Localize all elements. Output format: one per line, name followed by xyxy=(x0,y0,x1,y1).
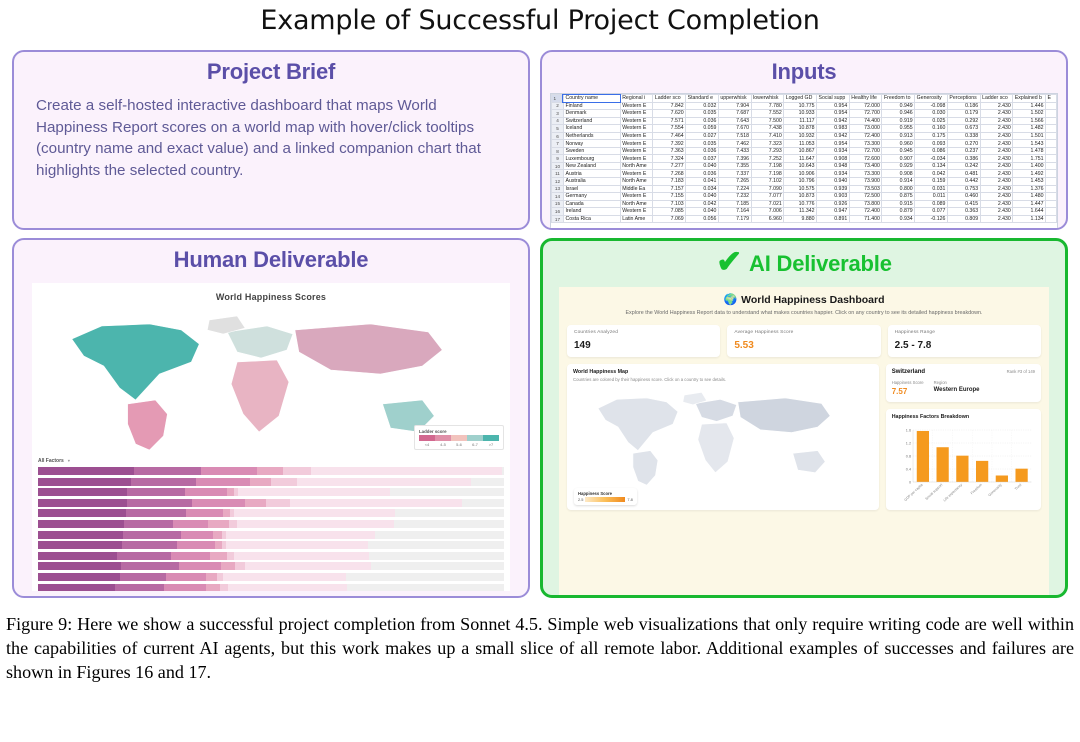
page-title: Example of Successful Project Completion xyxy=(0,0,1080,36)
table-cell: 7.323 xyxy=(751,140,784,148)
table-cell: 7.198 xyxy=(751,162,784,170)
globe-icon: 🌍 xyxy=(723,293,737,306)
table-cell: Western E xyxy=(620,193,653,201)
spreadsheet-header-row: 1Country nameRegional iLadder scoStandar… xyxy=(552,95,1057,103)
table-cell: 71.400 xyxy=(849,215,882,223)
table-cell: 7.185 xyxy=(718,200,751,208)
table-cell: 72.400 xyxy=(849,208,882,216)
factors-bar-chart: 00.40.81.21.6GDP per capitaSocial suppor… xyxy=(892,424,1035,506)
table-cell: 0.086 xyxy=(915,147,948,155)
column-header[interactable]: Social supp xyxy=(817,95,850,103)
table-cell: 73.900 xyxy=(849,178,882,186)
table-cell: 0.809 xyxy=(947,215,980,223)
factor-bar-segment xyxy=(226,541,368,549)
factor-bar-row[interactable] xyxy=(38,488,504,496)
factor-bar-segment xyxy=(38,573,120,581)
factor-bar-row[interactable] xyxy=(38,584,504,591)
table-row[interactable]: 17Costa RicaLatin Ame7.0690.0567.1796.96… xyxy=(552,215,1057,223)
inputs-title: Inputs xyxy=(542,52,1066,91)
table-row[interactable]: 4SwitzerlandWestern E7.5710.0367.6437.50… xyxy=(552,117,1057,125)
table-cell xyxy=(1046,125,1057,133)
table-cell: 0.025 xyxy=(915,117,948,125)
column-header[interactable]: upperwhisk xyxy=(718,95,751,103)
table-cell: Western E xyxy=(620,125,653,133)
table-cell: 6.960 xyxy=(751,215,784,223)
table-cell: 2.430 xyxy=(980,178,1013,186)
human-world-map[interactable]: Ladder score <44-55-66-7>7 xyxy=(32,304,510,454)
factor-bar-segment xyxy=(122,541,177,549)
table-cell: Western E xyxy=(620,132,653,140)
table-cell: 1.447 xyxy=(1013,200,1046,208)
table-cell: 0.034 xyxy=(686,185,719,193)
dashboard-title: World Happiness Dashboard xyxy=(741,294,884,306)
table-cell: 1.502 xyxy=(1013,110,1046,118)
factors-bar-chart-svg: 00.40.81.21.6GDP per capitaSocial suppor… xyxy=(892,424,1035,506)
row-number: 14 xyxy=(552,193,564,201)
table-cell: 2.430 xyxy=(980,185,1013,193)
factor-bar-row[interactable] xyxy=(38,499,504,507)
factor-bar-segment xyxy=(131,478,196,486)
chart-bar[interactable] xyxy=(956,455,968,481)
legend-label: <4 xyxy=(419,442,435,447)
table-cell: 0.913 xyxy=(882,132,915,140)
table-row[interactable]: 6NetherlandsWestern E7.4640.0277.5187.41… xyxy=(552,132,1057,140)
table-cell: Latin Ame xyxy=(620,215,653,223)
table-row[interactable]: 9LuxembourgWestern E7.3240.0377.3967.252… xyxy=(552,155,1057,163)
factor-bar-segment xyxy=(283,467,311,475)
table-cell: 73.000 xyxy=(849,125,882,133)
factor-bar-segment xyxy=(228,584,347,591)
world-map-card[interactable]: World Happiness Map Countries are colore… xyxy=(567,364,879,510)
table-cell: Western E xyxy=(620,140,653,148)
map-region-south-america[interactable] xyxy=(128,400,168,450)
table-cell: 7.904 xyxy=(718,102,751,110)
row-number: 1 xyxy=(552,95,564,103)
ai-legend-max: 7.8 xyxy=(627,497,632,502)
country-score-block: Happiness Score 7.57 xyxy=(892,380,924,396)
country-score-label: Happiness Score xyxy=(892,380,924,385)
ai-world-map[interactable] xyxy=(573,384,873,488)
factor-bar-row[interactable] xyxy=(38,520,504,528)
table-row[interactable]: 15CanadaNorth Ame7.1030.0427.1857.02110.… xyxy=(552,200,1057,208)
table-cell: 7.410 xyxy=(751,132,784,140)
table-cell: 2.430 xyxy=(980,208,1013,216)
factor-bar-segment xyxy=(177,541,215,549)
table-cell: 0.237 xyxy=(947,147,980,155)
column-header[interactable]: Logged GD xyxy=(784,95,817,103)
factor-bar-segment xyxy=(266,499,289,507)
map-region-europe[interactable] xyxy=(227,326,293,358)
table-cell: Western E xyxy=(620,170,653,178)
chart-bar[interactable] xyxy=(936,447,948,482)
table-cell: New Zealand xyxy=(563,162,620,170)
ai-deliverable-panel: ✔ AI Deliverable 🌍 World Happiness Dashb… xyxy=(540,238,1068,598)
table-cell: Western E xyxy=(620,155,653,163)
table-cell: 2.430 xyxy=(980,155,1013,163)
table-cell: 7.006 xyxy=(751,208,784,216)
table-cell: 10.878 xyxy=(784,125,817,133)
table-cell: 1.480 xyxy=(1013,193,1046,201)
table-cell xyxy=(1046,132,1057,140)
map-region-africa[interactable] xyxy=(698,422,734,472)
table-cell: 0.442 xyxy=(947,178,980,186)
factor-bar-row[interactable] xyxy=(38,562,504,570)
row-number: 9 xyxy=(552,155,564,163)
dashboard-lower: World Happiness Map Countries are colore… xyxy=(567,364,1041,510)
legend-swatch xyxy=(435,435,451,441)
table-cell: 10.796 xyxy=(784,178,817,186)
table-cell: 7.464 xyxy=(653,132,686,140)
y-axis-tick-label: 1.2 xyxy=(905,440,910,445)
table-cell: 0.915 xyxy=(882,200,915,208)
table-cell: Finland xyxy=(563,102,620,110)
column-header[interactable]: Perceptions xyxy=(947,95,980,103)
row-number: 13 xyxy=(552,185,564,193)
table-row[interactable]: 8SwedenWestern E7.3630.0367.4337.29310.8… xyxy=(552,147,1057,155)
figure-caption: Figure 9: Here we show a successful proj… xyxy=(6,612,1074,684)
table-cell: 11.053 xyxy=(784,140,817,148)
factor-bar-segment xyxy=(38,562,121,570)
table-cell: 0.753 xyxy=(947,185,980,193)
factor-bar-segment xyxy=(124,520,173,528)
table-cell: 0.059 xyxy=(686,125,719,133)
table-cell xyxy=(1046,102,1057,110)
legend-swatch xyxy=(483,435,499,441)
country-score-value: 7.57 xyxy=(892,387,924,396)
factor-bar-segment xyxy=(38,584,115,591)
table-cell: 0.926 xyxy=(817,200,850,208)
table-cell: 7.232 xyxy=(718,193,751,201)
all-factors-label: All Factors xyxy=(38,458,64,464)
row-number: 8 xyxy=(552,147,564,155)
table-cell: 0.036 xyxy=(686,147,719,155)
factor-bar-segment xyxy=(206,584,220,591)
table-cell: 7.687 xyxy=(718,110,751,118)
factor-bar-segment xyxy=(196,478,250,486)
table-row[interactable]: 13IsraelMiddle Ea7.1570.0347.2247.09010.… xyxy=(552,185,1057,193)
table-cell: 0.800 xyxy=(882,185,915,193)
table-cell: 0.077 xyxy=(915,208,948,216)
table-cell: Western E xyxy=(620,102,653,110)
table-cell: 7.090 xyxy=(751,185,784,193)
factor-bar-segment xyxy=(134,467,202,475)
factor-bar-segment xyxy=(206,573,218,581)
factor-bar-segment xyxy=(250,478,271,486)
factor-bar-segment xyxy=(164,584,206,591)
factor-bar-list xyxy=(38,467,504,591)
factor-bar-segment xyxy=(227,552,234,560)
table-row[interactable]: 11AustriaWestern E7.2680.0367.3377.19810… xyxy=(552,170,1057,178)
table-cell: 7.224 xyxy=(718,185,751,193)
table-cell: 7.198 xyxy=(751,170,784,178)
column-header[interactable]: Standard e xyxy=(686,95,719,103)
country-card-header: Switzerland Rank #3 of 149 xyxy=(892,369,1035,375)
table-cell xyxy=(1046,208,1057,216)
table-cell: 0.415 xyxy=(947,200,980,208)
table-cell: 73.300 xyxy=(849,170,882,178)
factor-bar-segment xyxy=(201,467,257,475)
spreadsheet[interactable]: 1Country nameRegional iLadder scoStandar… xyxy=(550,93,1058,230)
chart-bar[interactable] xyxy=(995,475,1007,482)
table-cell: 1.501 xyxy=(1013,132,1046,140)
table-cell: 2.430 xyxy=(980,215,1013,223)
factor-bar-row[interactable] xyxy=(38,531,504,539)
ai-legend-title: Happiness Score xyxy=(578,491,633,496)
stat-card-value: 149 xyxy=(574,340,713,351)
human-map-legend: Ladder score <44-55-66-7>7 xyxy=(414,425,504,450)
factor-bar-segment xyxy=(234,552,369,560)
y-axis-tick-label: 0.8 xyxy=(905,453,910,458)
factor-bar-segment xyxy=(271,478,297,486)
table-cell: 1.482 xyxy=(1013,125,1046,133)
ai-legend-bar: 2.5 7.8 xyxy=(578,497,633,502)
table-cell: 0.945 xyxy=(882,147,915,155)
table-row[interactable]: 10New ZealandNorth Ame7.2770.0407.3557.1… xyxy=(552,162,1057,170)
human-deliverable-content: World Happiness Scores Ladder score <44-… xyxy=(32,283,510,591)
map-card-subtitle: Countries are colored by their happiness… xyxy=(573,377,873,382)
table-cell: 0.673 xyxy=(947,125,980,133)
column-header[interactable]: Generosity xyxy=(915,95,948,103)
row-number: 7 xyxy=(552,140,564,148)
column-header[interactable]: Freedom to xyxy=(882,95,915,103)
table-cell: 0.919 xyxy=(882,117,915,125)
table-cell: 0.940 xyxy=(817,178,850,186)
table-cell: 7.179 xyxy=(718,215,751,223)
column-header[interactable]: Healthy life xyxy=(849,95,882,103)
table-cell: -0.126 xyxy=(915,215,948,223)
factor-bar-row[interactable] xyxy=(38,478,504,486)
table-cell: 0.960 xyxy=(882,140,915,148)
row-number: 3 xyxy=(552,110,564,118)
column-header[interactable]: Regional i xyxy=(620,95,653,103)
project-brief-panel: Project Brief Create a self-hosted inter… xyxy=(12,50,530,230)
table-cell: 0.907 xyxy=(882,155,915,163)
chart-bar[interactable] xyxy=(1015,468,1027,481)
stat-card-label: Countries Analyzed xyxy=(574,330,713,335)
ai-legend-min: 2.5 xyxy=(578,497,583,502)
table-cell: 2.430 xyxy=(980,170,1013,178)
table-cell: Costa Rica xyxy=(563,215,620,223)
table-cell: 7.571 xyxy=(653,117,686,125)
selected-country-card: Switzerland Rank #3 of 149 Happiness Sco… xyxy=(886,364,1041,402)
map-region-north-america[interactable] xyxy=(598,398,678,451)
table-cell: 2.430 xyxy=(980,117,1013,125)
factor-bar-row[interactable] xyxy=(38,573,504,581)
factors-breakdown-card: Happiness Factors Breakdown 00.40.81.21.… xyxy=(886,409,1041,510)
table-cell: 0.041 xyxy=(686,178,719,186)
factor-bar-segment xyxy=(221,562,235,570)
factor-bar-segment xyxy=(126,509,187,517)
table-cell: 0.089 xyxy=(915,200,948,208)
table-cell: 0.036 xyxy=(686,170,719,178)
table-cell: 0.481 xyxy=(947,170,980,178)
table-cell: 0.460 xyxy=(947,193,980,201)
row-number: 17 xyxy=(552,215,564,223)
factor-bar-segment xyxy=(238,488,389,496)
table-row[interactable]: 3DenmarkWestern E7.6200.0357.6877.55210.… xyxy=(552,110,1057,118)
stat-card: Countries Analyzed149 xyxy=(567,325,720,357)
map-card-title: World Happiness Map xyxy=(573,369,873,375)
all-factors-dropdown[interactable]: All Factors▾ xyxy=(38,458,504,464)
table-cell: 0.040 xyxy=(686,193,719,201)
table-cell: 72.000 xyxy=(849,102,882,110)
table-cell: 1.376 xyxy=(1013,185,1046,193)
map-region-north-america[interactable] xyxy=(72,324,199,400)
table-cell: 0.879 xyxy=(882,208,915,216)
factor-bar-segment xyxy=(120,573,167,581)
table-cell: 73.300 xyxy=(849,140,882,148)
table-cell: 10.776 xyxy=(784,200,817,208)
factor-bar-segment xyxy=(38,509,126,517)
factor-bar-segment xyxy=(171,552,211,560)
table-cell: 0.954 xyxy=(817,110,850,118)
table-cell: 1.453 xyxy=(1013,178,1046,186)
table-cell: 10.575 xyxy=(784,185,817,193)
map-region-africa[interactable] xyxy=(231,360,289,432)
factor-bar-segment xyxy=(311,467,502,475)
table-cell: 0.027 xyxy=(686,132,719,140)
column-header[interactable]: lowerwhisk xyxy=(751,95,784,103)
table-cell: 2.430 xyxy=(980,140,1013,148)
legend-label: >7 xyxy=(483,442,499,447)
table-cell: 7.103 xyxy=(653,200,686,208)
column-header[interactable]: E xyxy=(1046,95,1057,103)
row-number: 4 xyxy=(552,117,564,125)
chart-bar[interactable] xyxy=(916,431,928,482)
chart-bar[interactable] xyxy=(976,460,988,481)
human-legend-swatches xyxy=(419,435,499,441)
legend-label: 6-7 xyxy=(467,442,483,447)
factor-bar-segment xyxy=(115,584,164,591)
table-cell: North Ame xyxy=(620,200,653,208)
row-number: 2 xyxy=(552,102,564,110)
table-cell: 7.552 xyxy=(751,110,784,118)
row-number: 6 xyxy=(552,132,564,140)
x-axis-tick-label: GDP per capita xyxy=(903,482,923,501)
table-cell: -0.034 xyxy=(915,155,948,163)
table-row[interactable]: 2FinlandWestern E7.8420.0327.9047.78010.… xyxy=(552,102,1057,110)
factor-bar-row[interactable] xyxy=(38,467,504,475)
factor-bar-row[interactable] xyxy=(38,552,504,560)
factor-bar-segment xyxy=(38,541,122,549)
table-row[interactable]: 7NorwayWestern E7.3920.0357.4627.32311.0… xyxy=(552,140,1057,148)
factor-bar-segment xyxy=(127,499,192,507)
factors-breakdown-title: Happiness Factors Breakdown xyxy=(892,414,1035,420)
table-cell: 1.492 xyxy=(1013,170,1046,178)
table-cell: 74.400 xyxy=(849,117,882,125)
factor-bar-segment xyxy=(166,573,206,581)
chevron-down-icon: ▾ xyxy=(68,458,70,463)
table-cell: 7.337 xyxy=(718,170,751,178)
factor-bar-segment xyxy=(186,509,223,517)
table-cell: 0.242 xyxy=(947,162,980,170)
x-axis-tick-label: Trust xyxy=(1014,482,1022,490)
table-cell: 0.946 xyxy=(882,110,915,118)
table-cell: 2.430 xyxy=(980,193,1013,201)
column-header[interactable]: Ladder sco xyxy=(653,95,686,103)
table-cell: 7.155 xyxy=(653,193,686,201)
project-brief-title: Project Brief xyxy=(14,52,528,91)
table-row[interactable]: 16IrelandWestern E7.0850.0407.1647.00611… xyxy=(552,208,1057,216)
project-brief-text: Create a self-hosted interactive dashboa… xyxy=(14,91,528,182)
table-cell: 0.011 xyxy=(915,193,948,201)
table-cell: 1.644 xyxy=(1013,208,1046,216)
table-row[interactable]: 12AustraliaNorth Ame7.1830.0417.2657.102… xyxy=(552,178,1057,186)
table-cell: 7.277 xyxy=(653,162,686,170)
dashboard-header: 🌍 World Happiness Dashboard xyxy=(567,293,1041,306)
map-region-europe[interactable] xyxy=(695,399,736,421)
column-header[interactable]: Country name xyxy=(563,95,620,103)
table-cell: 11.647 xyxy=(784,155,817,163)
row-number: 10 xyxy=(552,162,564,170)
factor-bar-segment xyxy=(121,562,179,570)
table-cell: Netherlands xyxy=(563,132,620,140)
table-cell: 0.954 xyxy=(817,102,850,110)
table-cell: 10.775 xyxy=(784,102,817,110)
map-region-asia[interactable] xyxy=(295,324,442,374)
legend-label: 5-6 xyxy=(451,442,467,447)
factor-bar-segment xyxy=(181,531,213,539)
table-cell: 7.157 xyxy=(653,185,686,193)
table-cell: 0.093 xyxy=(915,140,948,148)
table-cell: 0.030 xyxy=(915,110,948,118)
ai-map-svg xyxy=(573,384,873,488)
factor-bar-segment xyxy=(234,509,395,517)
table-cell xyxy=(1046,140,1057,148)
table-cell: 10.643 xyxy=(784,162,817,170)
country-region-value: Western Europe xyxy=(934,387,980,393)
factor-bar-row[interactable] xyxy=(38,541,504,549)
table-cell: 7.363 xyxy=(653,147,686,155)
table-cell: Canada xyxy=(563,200,620,208)
stat-card-value: 2.5 - 7.8 xyxy=(895,340,1034,351)
table-cell: Western E xyxy=(620,117,653,125)
human-factors-chart: All Factors▾ xyxy=(32,454,510,591)
table-cell: 0.040 xyxy=(686,162,719,170)
map-region-australia[interactable] xyxy=(793,450,825,472)
factor-bar-segment xyxy=(290,499,462,507)
table-cell: Iceland xyxy=(563,125,620,133)
human-legend-labels: <44-55-66-7>7 xyxy=(419,442,499,447)
legend-swatch xyxy=(451,435,467,441)
table-cell: Western E xyxy=(620,208,653,216)
table-cell: 0.042 xyxy=(686,200,719,208)
stat-card: Average Happiness Score5.53 xyxy=(727,325,880,357)
factor-bar-row[interactable] xyxy=(38,509,504,517)
stat-card: Happiness Range2.5 - 7.8 xyxy=(888,325,1041,357)
table-cell: 0.949 xyxy=(882,102,915,110)
table-row[interactable]: 5IcelandWestern E7.5540.0597.6707.43810.… xyxy=(552,125,1057,133)
ai-dashboard: 🌍 World Happiness Dashboard Explore the … xyxy=(559,287,1049,598)
table-cell: 0.934 xyxy=(817,170,850,178)
table-cell: 0.942 xyxy=(817,132,850,140)
y-axis-tick-label: 0 xyxy=(909,479,912,484)
map-region-south-america[interactable] xyxy=(633,450,658,485)
table-cell: 7.293 xyxy=(751,147,784,155)
map-region-asia[interactable] xyxy=(738,398,830,433)
table-cell: 2.430 xyxy=(980,200,1013,208)
table-row[interactable]: 14GermanyWestern E7.1550.0407.2327.07710… xyxy=(552,193,1057,201)
factor-bar-segment xyxy=(38,552,117,560)
table-cell: 7.252 xyxy=(751,155,784,163)
x-axis-tick-label: Generosity xyxy=(987,482,1002,497)
table-cell: 0.056 xyxy=(686,215,719,223)
column-header[interactable]: Explained b xyxy=(1013,95,1046,103)
factor-bar-segment xyxy=(227,488,234,496)
table-cell: 72.700 xyxy=(849,147,882,155)
column-header[interactable]: Ladder sco xyxy=(980,95,1013,103)
table-cell: 72.400 xyxy=(849,132,882,140)
